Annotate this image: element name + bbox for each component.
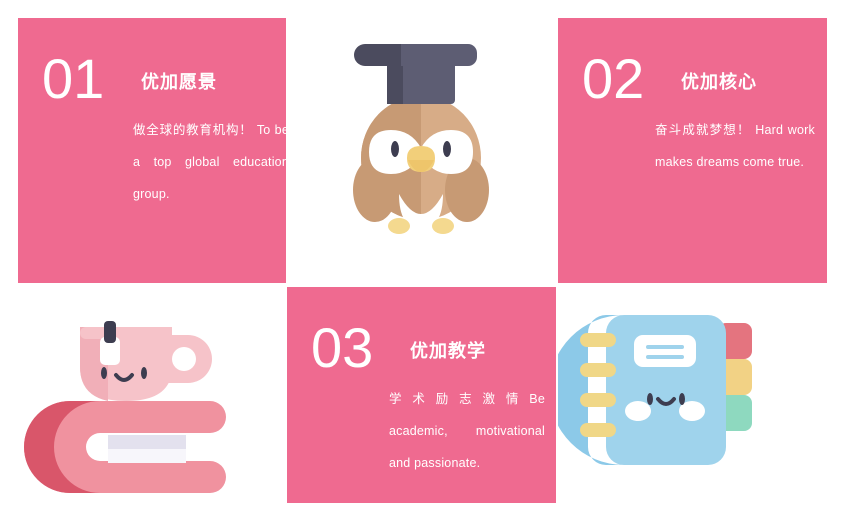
card-number: 02 <box>582 51 644 107</box>
card-body-text: 学 术 励 志 激 情 Be academic, motivational an… <box>389 383 545 479</box>
cup-handle-hole <box>172 347 196 371</box>
notebook-label <box>634 335 696 367</box>
card-title: 优加教学 <box>410 341 486 363</box>
content-card-01[interactable]: 01 优加愿景 做全球的教育机构！ To be a top global edu… <box>18 18 286 283</box>
card-body-text: 做全球的教育机构！ To be a top global education g… <box>133 114 286 210</box>
illustration-owl-graduate <box>287 18 556 283</box>
owl-cap-crown-shadow <box>387 62 403 104</box>
notebook-ring-2 <box>580 363 616 377</box>
content-card-02[interactable]: 02 优加核心 奋斗成就梦想！ Hard work makes dreams c… <box>558 18 827 283</box>
cup-tea-tag-top <box>104 321 116 343</box>
notebook-eye-left <box>647 393 653 405</box>
cup-eye-right <box>141 367 147 379</box>
content-card-03[interactable]: 03 优加教学 学 术 励 志 激 情 Be academic, motivat… <box>287 287 556 503</box>
owl-foot-left <box>388 218 410 234</box>
owl-foot-right <box>432 218 454 234</box>
notebook-ring-3 <box>580 393 616 407</box>
cup-eye-left <box>101 367 107 379</box>
owl-eye-right <box>443 141 451 157</box>
notebook-ring-1 <box>580 333 616 347</box>
illustration-teacup-on-book <box>18 287 286 503</box>
notebook-blush-left <box>625 401 651 421</box>
notebook-label-line-2 <box>646 355 684 359</box>
card-title: 优加愿景 <box>141 72 217 94</box>
slide-canvas: 01 优加愿景 做全球的教育机构！ To be a top global edu… <box>0 0 845 521</box>
book-pages-lower <box>108 449 186 463</box>
card-number: 03 <box>311 320 373 376</box>
illustration-notebook-tabs <box>558 287 827 503</box>
card-title: 优加核心 <box>681 72 757 94</box>
owl-cap-board-shadow <box>354 44 401 66</box>
notebook-eye-right <box>679 393 685 405</box>
card-number: 01 <box>42 51 104 107</box>
owl-eye-left <box>391 141 399 157</box>
card-body-text: 奋斗成就梦想！ Hard work makes dreams come true… <box>655 114 815 178</box>
cup-rim <box>80 327 172 339</box>
notebook-ring-4 <box>580 423 616 437</box>
book-pages-upper <box>108 435 186 449</box>
notebook-label-line-1 <box>646 345 684 349</box>
